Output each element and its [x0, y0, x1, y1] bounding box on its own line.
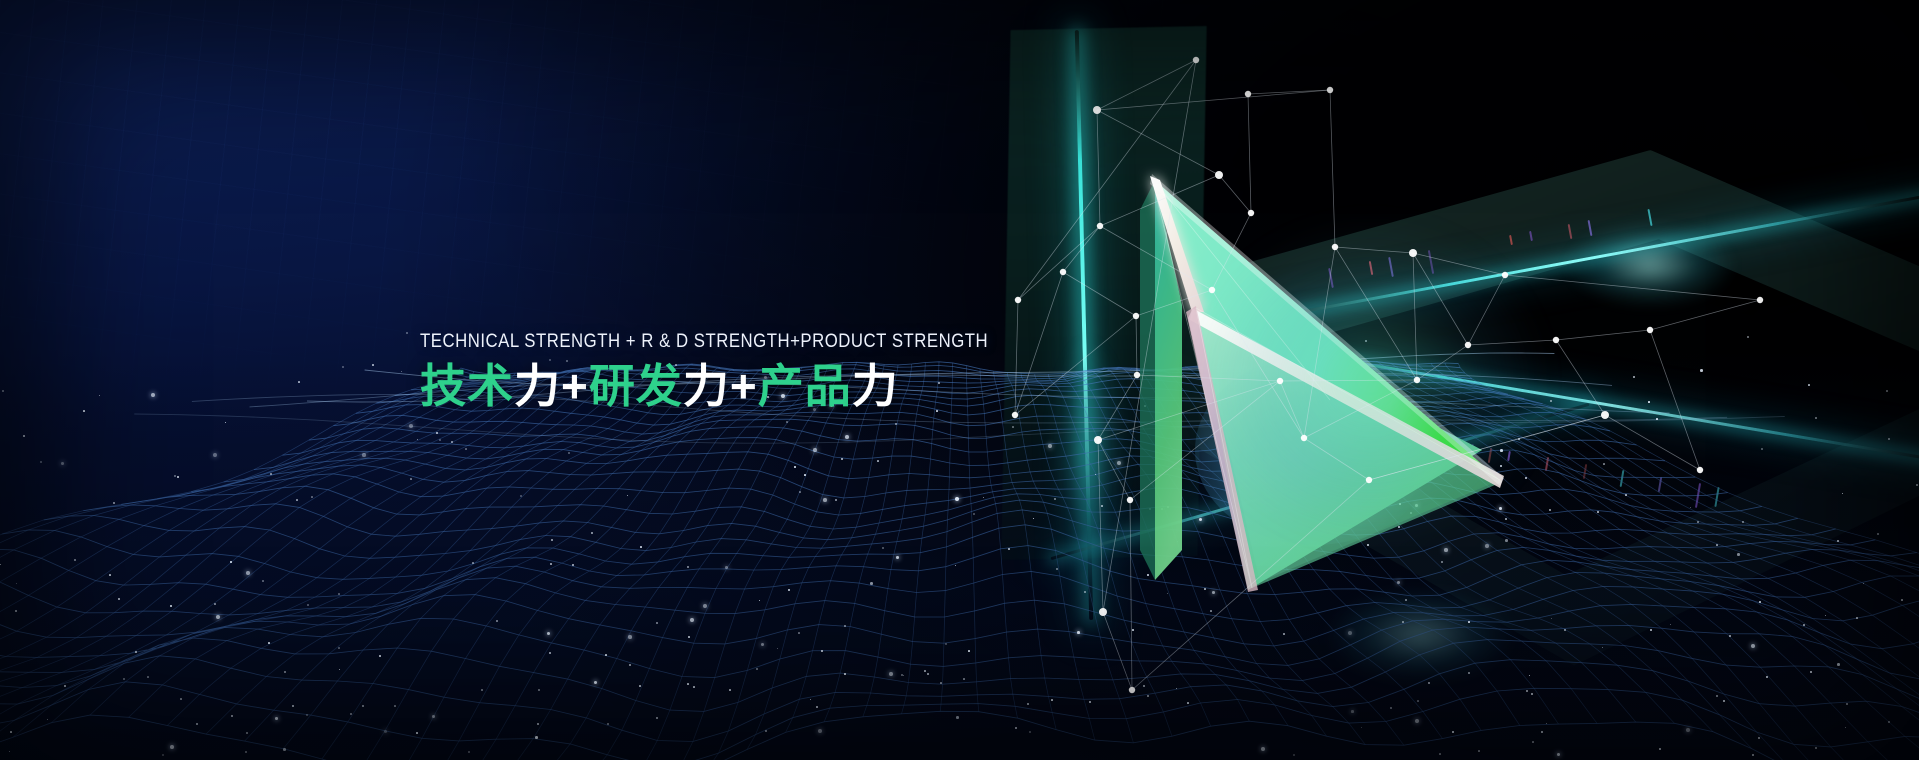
headline-segment-3: 研发 — [589, 360, 683, 412]
network-node — [1301, 435, 1307, 441]
headline-chinese: 技术力+研发力+产品力 — [420, 359, 1060, 413]
network-node — [1127, 497, 1133, 503]
network-node — [1697, 467, 1703, 473]
headline-segment-4: 力 — [683, 360, 730, 412]
network-node — [1133, 313, 1139, 319]
network-node — [1193, 57, 1199, 63]
headline-segment-7: 力 — [852, 360, 899, 412]
headline-segment-1: 力 — [514, 360, 561, 412]
network-node — [1093, 106, 1101, 114]
network-node — [1060, 269, 1066, 275]
network-node — [1209, 287, 1215, 293]
network-node — [1134, 372, 1140, 378]
network-node — [1327, 87, 1333, 93]
network-node — [1601, 411, 1609, 419]
network-node — [1097, 223, 1103, 229]
headline-segment-5: + — [730, 360, 758, 412]
network-node — [1757, 297, 1763, 303]
network-node — [1099, 608, 1107, 616]
network-node — [1414, 377, 1420, 383]
network-node — [1553, 337, 1559, 343]
headline-segment-6: 产品 — [758, 360, 852, 412]
network-node — [1502, 272, 1508, 278]
network-node — [1409, 249, 1417, 257]
network-node — [1215, 171, 1223, 179]
network-node — [1332, 244, 1338, 250]
network-node — [1647, 327, 1653, 333]
network-node — [1245, 91, 1251, 97]
headline-segment-0: 技术 — [420, 360, 514, 412]
network-node — [1248, 210, 1254, 216]
network-node — [1015, 297, 1021, 303]
hero-banner: TECHNICAL STRENGTH + R & D STRENGTH+PROD… — [0, 0, 1919, 760]
network-node — [1366, 477, 1372, 483]
network-node — [1465, 342, 1471, 348]
network-node — [1129, 687, 1135, 693]
headline-block: TECHNICAL STRENGTH + R & D STRENGTH+PROD… — [420, 330, 1060, 414]
network-node — [1277, 378, 1283, 384]
network-node — [1094, 436, 1102, 444]
headline-segment-2: + — [561, 360, 589, 412]
tagline-english: TECHNICAL STRENGTH + R & D STRENGTH+PROD… — [420, 330, 970, 352]
